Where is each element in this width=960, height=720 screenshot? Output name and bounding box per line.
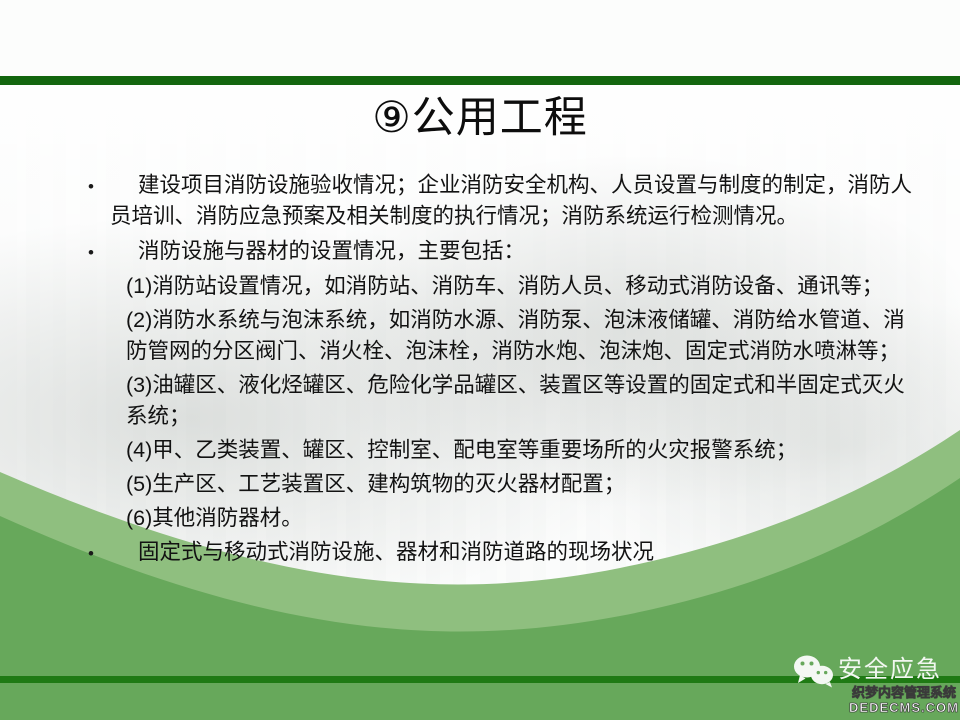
paragraph-text: (5)生产区、工艺装置区、建构筑物的灭火器材配置； bbox=[126, 469, 920, 500]
top-divider-rule bbox=[0, 76, 960, 85]
paragraph-text: (1)消防站设置情况，如消防站、消防车、消防人员、移动式消防设备、通讯等； bbox=[126, 271, 920, 302]
bullet-marker-icon: • bbox=[60, 171, 94, 202]
bullet-paragraph-2: • 消防设施与器材的设置情况，主要包括： bbox=[48, 236, 920, 267]
presentation-slide: ⑨公用工程 • 建设项目消防设施验收情况；企业消防安全机构、人员设置与制度的制定… bbox=[0, 0, 960, 720]
wechat-account-name: 安全应急 bbox=[838, 652, 942, 688]
background-top-white-band bbox=[0, 0, 960, 70]
numbered-item-1: (1)消防站设置情况，如消防站、消防车、消防人员、移动式消防设备、通讯等； bbox=[48, 271, 920, 302]
numbered-item-3: (3)油罐区、液化烃罐区、危险化学品罐区、装置区等设置的固定式和半固定式灭火系统… bbox=[48, 370, 920, 432]
numbered-item-5: (5)生产区、工艺装置区、建构筑物的灭火器材配置； bbox=[48, 469, 920, 500]
bullet-marker-icon: • bbox=[60, 538, 94, 569]
page-title: ⑨公用工程 bbox=[0, 96, 960, 141]
paragraph-text: 固定式与移动式消防设施、器材和消防道路的现场状况 bbox=[110, 537, 920, 568]
bullet-paragraph-3: • 固定式与移动式消防设施、器材和消防道路的现场状况 bbox=[48, 537, 920, 568]
paragraph-text: (2)消防水系统与泡沫系统，如消防水源、消防泵、泡沫液储罐、消防给水管道、消防管… bbox=[126, 305, 920, 367]
dedecms-watermark-en: DEDECMS.COM bbox=[845, 700, 960, 715]
paragraph-text: 建设项目消防设施验收情况；企业消防安全机构、人员设置与制度的制定，消防人员培训、… bbox=[110, 170, 920, 232]
numbered-item-2: (2)消防水系统与泡沫系统，如消防水源、消防泵、泡沫液储罐、消防给水管道、消防管… bbox=[48, 305, 920, 367]
paragraph-text: (4)甲、乙类装置、罐区、控制室、配电室等重要场所的火灾报警系统； bbox=[126, 435, 920, 466]
bullet-marker-icon: • bbox=[60, 237, 94, 268]
paragraph-text: (3)油罐区、液化烃罐区、危险化学品罐区、装置区等设置的固定式和半固定式灭火系统… bbox=[126, 370, 920, 432]
numbered-item-4: (4)甲、乙类装置、罐区、控制室、配电室等重要场所的火灾报警系统； bbox=[48, 435, 920, 466]
dedecms-watermark-cn: 织梦内容管理系统 bbox=[845, 686, 960, 700]
paragraph-text: 消防设施与器材的设置情况，主要包括： bbox=[110, 236, 920, 267]
dedecms-watermark: 织梦内容管理系统 DEDECMS.COM bbox=[845, 686, 960, 715]
bullet-paragraph-1: • 建设项目消防设施验收情况；企业消防安全机构、人员设置与制度的制定，消防人员培… bbox=[48, 170, 920, 232]
wechat-icon bbox=[792, 654, 836, 688]
numbered-item-6: (6)其他消防器材。 bbox=[48, 503, 920, 534]
slide-body: • 建设项目消防设施验收情况；企业消防安全机构、人员设置与制度的制定，消防人员培… bbox=[48, 170, 920, 570]
paragraph-text: (6)其他消防器材。 bbox=[126, 503, 920, 534]
